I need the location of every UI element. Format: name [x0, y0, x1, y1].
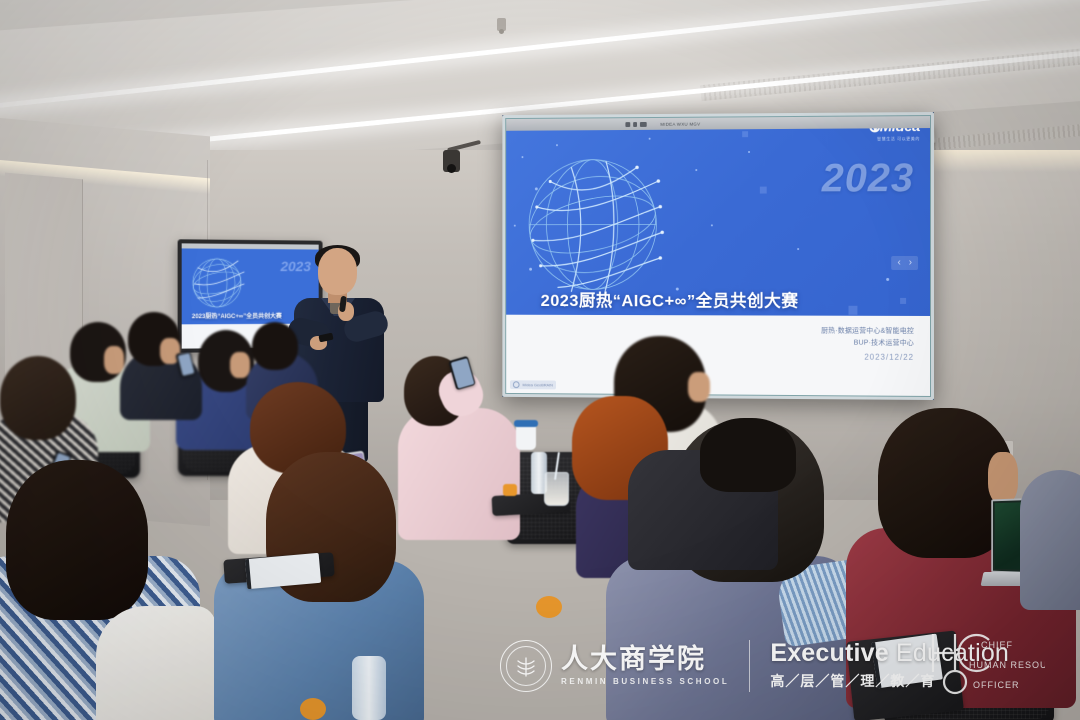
- orange-snack-icon: [503, 484, 517, 496]
- coffee-cup-icon: [516, 424, 536, 450]
- attendee-hair: [0, 356, 76, 440]
- iced-drink-icon: [544, 472, 569, 506]
- globe-graphic-icon: [188, 252, 250, 315]
- projection-screen[interactable]: MIDEA WXU MGV Midea 智慧生活 可以更美的: [502, 112, 934, 400]
- air-vent-icon: [930, 121, 1080, 150]
- conference-room-scene: MIDEA WXU MGV Midea 智慧生活 可以更美的: [0, 0, 1080, 720]
- preview-slide-title: 2023厨热“AIGC+∞”全员共创大赛: [192, 311, 282, 320]
- coffee-cup-lid: [514, 420, 538, 427]
- notebook-icon: [245, 553, 321, 589]
- attendee-face: [988, 452, 1018, 504]
- attendee-face: [104, 346, 124, 374]
- attendee-head: [252, 322, 298, 370]
- attendee-face: [688, 372, 710, 402]
- sprinkler-head-icon: [497, 18, 506, 31]
- orange-snack-icon: [536, 596, 562, 618]
- projector-camera-icon: [443, 150, 460, 172]
- attendee-face: [230, 352, 250, 378]
- attendee-body: [398, 408, 520, 540]
- renmin-seal-icon: [500, 640, 552, 692]
- notebook-icon: [871, 634, 943, 689]
- attendee-hair: [6, 460, 148, 620]
- cove-light: [930, 150, 1080, 172]
- attendee-head: [700, 418, 796, 492]
- attendee-body: [1020, 470, 1080, 610]
- presenter-head: [318, 248, 357, 295]
- water-bottle-icon: [352, 656, 386, 720]
- screen-bezel: [502, 112, 934, 400]
- attendee-shoulder: [96, 606, 216, 720]
- orange-snack-icon: [300, 698, 326, 720]
